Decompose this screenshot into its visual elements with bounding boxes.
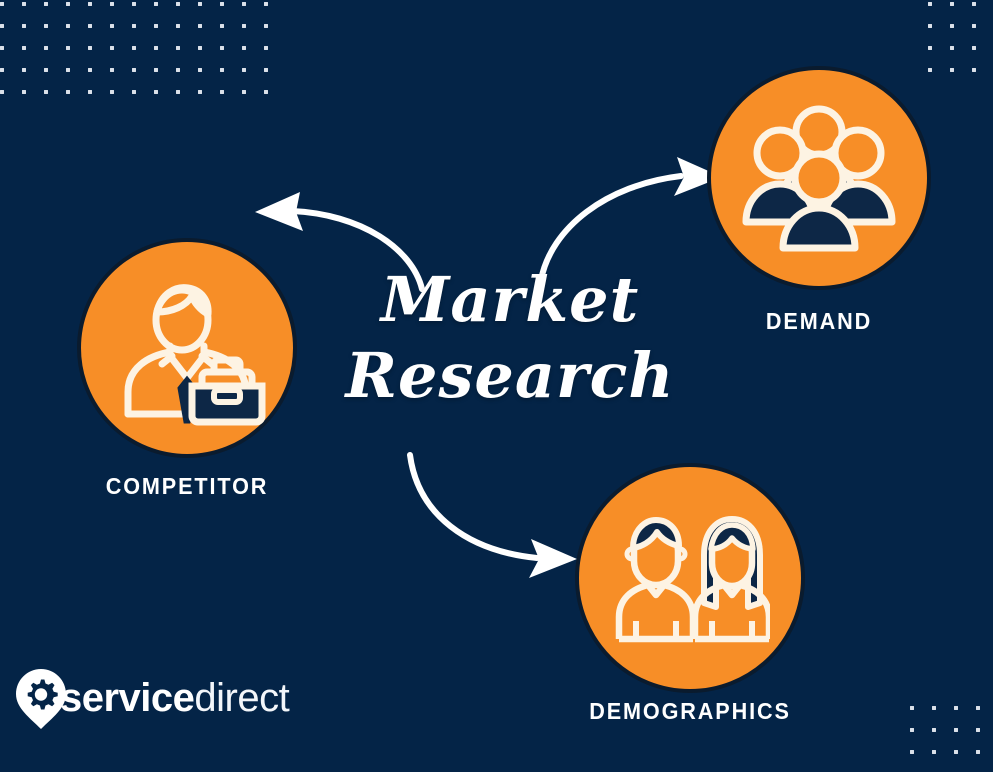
man-woman-pair-icon — [612, 515, 770, 643]
people-group-icon — [742, 104, 896, 252]
woman-figure — [695, 519, 769, 639]
demand-label: DEMAND — [678, 308, 960, 335]
infographic-canvas: .arw{fill:none;stroke:#ffffff;stroke-wid… — [0, 0, 993, 744]
page-title-line1: Market — [330, 262, 690, 338]
logo-name-bold: service — [60, 676, 194, 720]
logo-name-light: direct — [194, 676, 289, 720]
competitor-label: COMPETITOR — [46, 473, 328, 500]
man-figure — [619, 520, 693, 639]
demographics-label: DEMOGRAPHICS — [549, 698, 831, 725]
logo-wordmark: servicedirect — [60, 676, 289, 721]
businessperson-briefcase-icon — [110, 268, 266, 428]
page-title: Market Research — [330, 262, 690, 414]
page-title-line2: Research — [330, 338, 690, 414]
arrow-to-demographics — [410, 455, 577, 578]
briefcase-icon — [192, 360, 262, 422]
